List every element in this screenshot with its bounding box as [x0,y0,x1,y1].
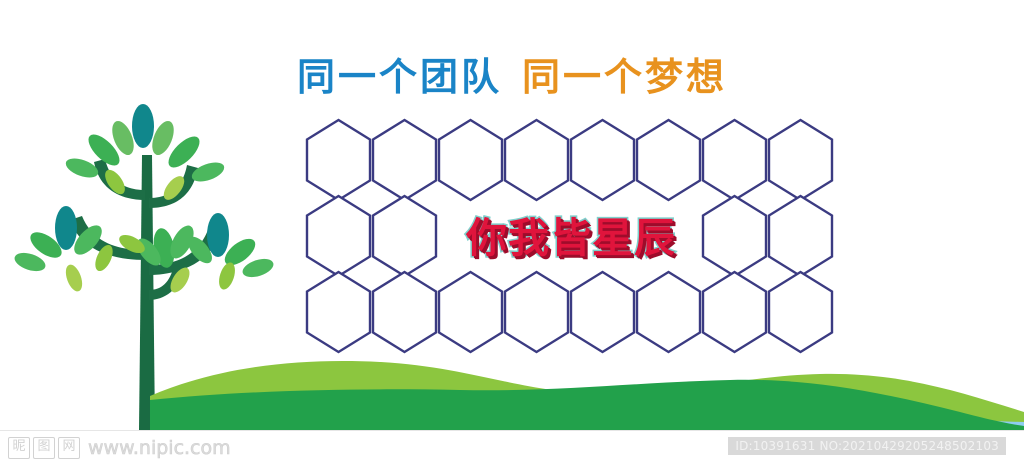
hexagon-cell[interactable] [371,118,438,202]
center-slogan: 你我皆星辰 [446,205,696,263]
tree-leaf [63,155,100,182]
hexagon-cell[interactable] [635,118,702,202]
tree-leaf-accent-top [132,104,154,148]
headline-segment-orange: 同一个梦想 [522,55,727,99]
tree-leaf-accent-right [207,213,229,257]
hexagon-cell[interactable] [305,270,372,354]
hexagon-cell[interactable] [503,270,570,354]
hexagon-cell[interactable] [503,118,570,202]
nipic-logo-char-1: 昵 [8,437,30,459]
tree-leaf [216,261,238,292]
tree-leaf [240,255,275,280]
tree-leaf-accent-left [55,206,77,250]
nipic-logo: 昵 图 网 www.nipic.com [8,435,231,461]
asset-id-badge: ID:10391631 NO:20210429205248502103 [728,437,1006,455]
hexagon-cell[interactable] [437,270,504,354]
hexagon-cell[interactable] [767,118,834,202]
hexagon-cell[interactable] [701,270,768,354]
footer-watermark-bar: 昵 图 网 www.nipic.com ID:10391631 NO:20210… [0,430,1024,466]
watermark-url: www.nipic.com [88,437,231,459]
hexagon-cell[interactable] [569,118,636,202]
hexagon-cell[interactable] [635,270,702,354]
hexagon-cell[interactable] [305,118,372,202]
hexagon-cell[interactable] [569,270,636,354]
hexagon-cell[interactable] [767,194,834,278]
hexagon-cell[interactable] [437,118,504,202]
hexagon-cell[interactable] [371,270,438,354]
nipic-logo-char-2: 图 [33,437,55,459]
hexagon-cell[interactable] [767,270,834,354]
headline-segment-blue: 同一个团队 [297,55,502,99]
center-slogan-text: 你我皆星辰 [466,204,676,264]
tree-leaf [63,262,86,293]
hills-illustration [0,350,1024,430]
nipic-logo-char-3: 网 [58,437,80,459]
artwork-artboard: 同一个团队同一个梦想 [0,0,1024,430]
hexagon-cell[interactable] [701,194,768,278]
hexagon-cell[interactable] [305,194,372,278]
hexagon-cell[interactable] [701,118,768,202]
page-title: 同一个团队同一个梦想 [0,58,1024,96]
tree-leaf [189,159,226,186]
hexagon-cell[interactable] [371,194,438,278]
screenshot-canvas: 同一个团队同一个梦想 [0,0,1024,466]
